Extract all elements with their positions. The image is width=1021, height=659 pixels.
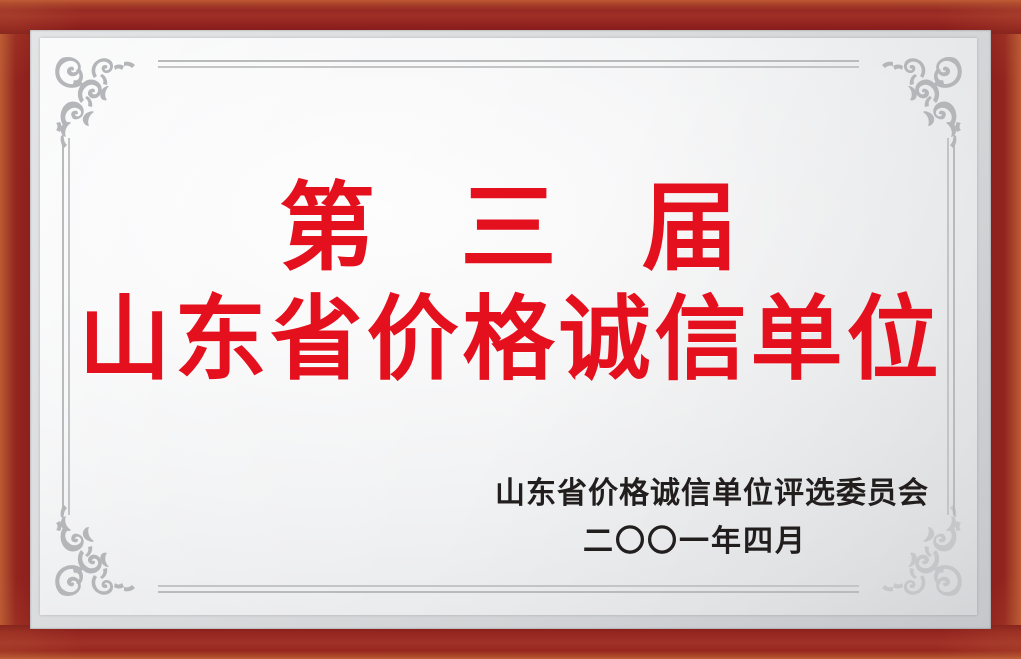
- award-title-line-2: 山东省价格诚信单位: [40, 293, 977, 385]
- award-title-line-1: 第 三 届: [40, 180, 977, 276]
- issuing-organization: 山东省价格诚信单位评选委员会: [495, 468, 895, 512]
- award-plaque: 第 三 届 山东省价格诚信单位 山东省价格诚信单位评选委员会 二〇〇一年四月: [0, 0, 1021, 659]
- plaque-panel: 第 三 届 山东省价格诚信单位 山东省价格诚信单位评选委员会 二〇〇一年四月: [40, 38, 977, 615]
- frame-left-bevel: [0, 0, 30, 659]
- issue-date: 二〇〇一年四月: [495, 516, 895, 560]
- plaque-content: 第 三 届 山东省价格诚信单位 山东省价格诚信单位评选委员会 二〇〇一年四月: [40, 38, 977, 615]
- frame-bottom-bevel: [0, 625, 1021, 659]
- frame-top-bevel: [0, 0, 1021, 34]
- frame-right-bevel: [991, 0, 1021, 659]
